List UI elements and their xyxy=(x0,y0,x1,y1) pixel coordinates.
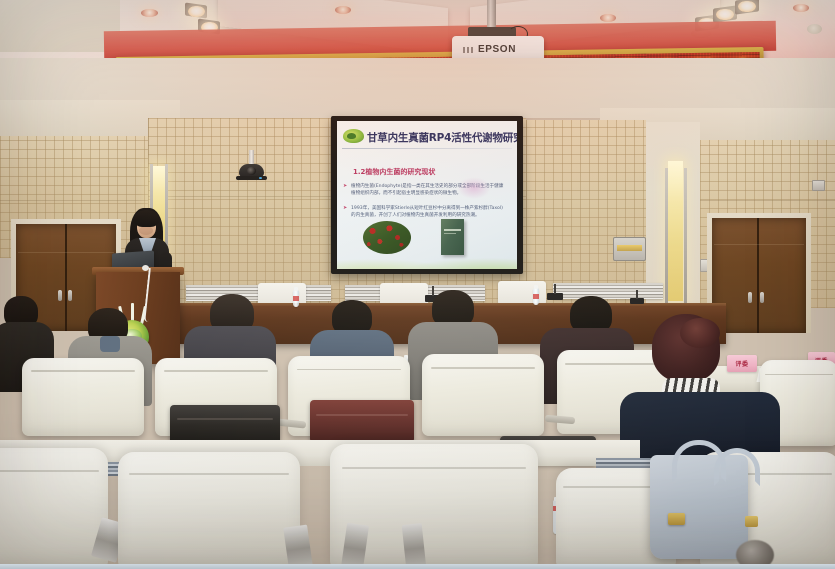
projector-logo-icon xyxy=(463,47,475,53)
slide-title: 甘草内生真菌RP4活性代谢物研究 xyxy=(343,130,513,145)
light-column-rail xyxy=(684,168,687,306)
wall-light-column-right xyxy=(668,161,683,301)
bullet-marker-icon: ➤ xyxy=(343,205,347,212)
microphone-stem xyxy=(432,286,434,296)
spotlight-icon xyxy=(716,9,734,20)
slide-bullet-text: 1993年，美国科学家Stierle从短叶红豆杉中分离得到一株产紫杉醇(Taxo… xyxy=(351,206,503,218)
wall-control-box[interactable] xyxy=(613,237,646,261)
chair-seam xyxy=(129,473,289,475)
handbag-handle[interactable] xyxy=(714,448,760,486)
bullet-marker-icon: ➤ xyxy=(343,183,347,190)
wall-outlet[interactable] xyxy=(812,180,825,191)
camera-base xyxy=(236,176,267,180)
hair-bun xyxy=(680,318,720,348)
chair-armrest xyxy=(545,415,575,425)
chair-seam xyxy=(0,470,99,472)
screen-glare xyxy=(457,177,491,199)
briefcase[interactable] xyxy=(170,405,280,443)
smoke-detector-icon xyxy=(807,24,822,34)
speaker-hair-front xyxy=(134,210,159,227)
slide-bullet-2: ➤ 1993年，美国科学家Stierle从短叶红豆杉中分离得到一株产紫杉醇(Ta… xyxy=(351,205,505,219)
microphone-stem xyxy=(636,290,638,299)
door-handle-left[interactable] xyxy=(58,290,62,301)
projection-screen: 甘草内生真菌RP4活性代谢物研究 1.2植物内生菌的研究现状 ➤ 植物内生菌(E… xyxy=(337,121,517,269)
slide-footer-decoration xyxy=(337,247,517,269)
briefcase-flap xyxy=(316,414,408,416)
downlight-icon xyxy=(793,4,809,12)
speaker-face-shadow xyxy=(139,226,153,235)
downlight-icon xyxy=(600,14,616,22)
slide-title-rule xyxy=(342,148,512,149)
door-split-left xyxy=(65,224,67,331)
camera-led-icon xyxy=(259,177,262,179)
door-right[interactable] xyxy=(712,218,806,333)
placard-text: 评委 xyxy=(735,359,748,368)
door-panel-line xyxy=(714,244,804,245)
projector-brand-label: EPSON xyxy=(478,44,516,55)
audience-chair[interactable] xyxy=(422,354,544,436)
table-microphone[interactable] xyxy=(547,293,563,300)
door-handle-left[interactable] xyxy=(68,290,72,301)
slide-section-heading: 1.2植物内生菌的研究现状 xyxy=(353,167,435,177)
chair-seam xyxy=(342,467,525,469)
audience-collar xyxy=(100,336,120,352)
bottom-edge-bar xyxy=(0,564,835,569)
foreground-chair[interactable] xyxy=(118,452,300,569)
projector-pole xyxy=(487,0,496,30)
camera-lens-icon xyxy=(247,167,256,175)
downlight-icon xyxy=(141,9,158,17)
wall-seam xyxy=(700,200,835,201)
handbag-clasp[interactable] xyxy=(745,516,758,527)
door-handle-right[interactable] xyxy=(760,292,764,303)
wall-metal-trim-right xyxy=(553,283,663,299)
microphone-stem xyxy=(554,284,556,294)
water-bottle[interactable] xyxy=(533,288,539,305)
downlight-icon xyxy=(335,6,351,14)
door-handle-right[interactable] xyxy=(748,292,752,303)
briefcase-flap xyxy=(177,418,274,420)
control-box-slot xyxy=(617,245,642,251)
wall-panel-right-of-screen xyxy=(526,120,646,308)
door-split-right xyxy=(757,218,759,333)
conference-photo: 黑龙江省农业科学院第八届论文大奖赛 EPSON xyxy=(0,0,835,569)
wall-seam xyxy=(526,120,527,308)
chair-armrest-chrome xyxy=(283,525,313,569)
spotlight-icon xyxy=(188,6,205,17)
water-bottle[interactable] xyxy=(293,290,299,307)
briefcase[interactable] xyxy=(310,400,414,442)
spotlight-icon xyxy=(738,1,756,12)
door-panel-line xyxy=(18,252,114,253)
name-placard: 评委 xyxy=(727,355,757,372)
wall-seam xyxy=(0,200,148,201)
light-column-rail xyxy=(665,168,668,306)
ceiling-corner-left xyxy=(0,0,120,52)
handbag-logo-plate xyxy=(668,513,685,525)
audience-chair[interactable] xyxy=(22,358,144,436)
